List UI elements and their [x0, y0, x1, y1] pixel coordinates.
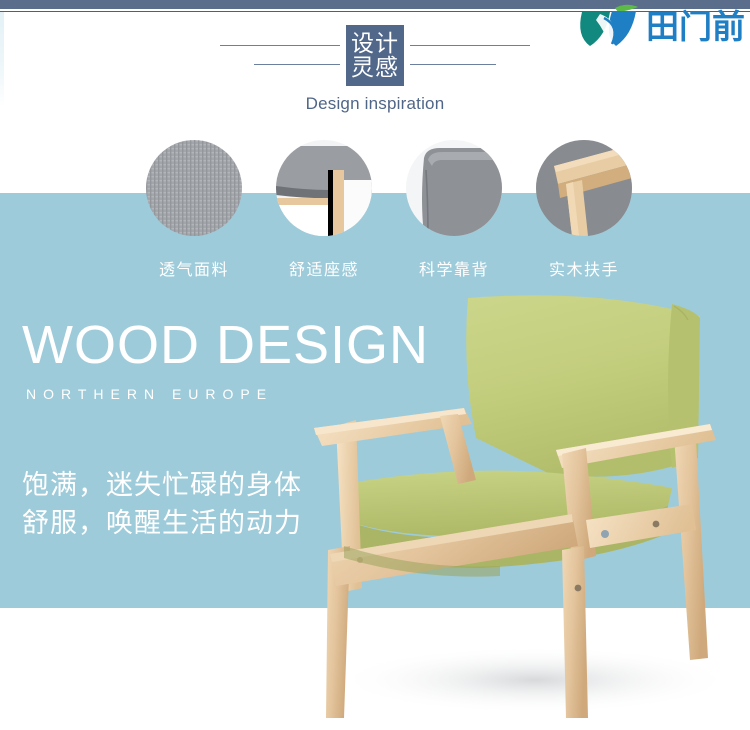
decor-rule — [254, 64, 340, 65]
fabric-weave-swatch-icon — [146, 140, 242, 236]
hero-tagline-line-2: 舒服，唤醒生活的动力 — [22, 504, 302, 542]
backrest-corner-detail-icon — [406, 140, 502, 236]
product-image — [300, 288, 750, 730]
decor-rules-left — [220, 45, 340, 65]
feature-list: 透气面料 舒适座感 — [130, 140, 650, 280]
cushion-seat-detail-icon — [276, 140, 372, 236]
decor-rule — [410, 45, 530, 46]
feature-label: 舒适座感 — [260, 256, 388, 280]
wood-armrest-joint-icon — [536, 140, 632, 236]
product-detail-page: 田门前 设计 灵感 Design inspiration — [0, 0, 750, 730]
feature-label: 实木扶手 — [520, 256, 648, 280]
hero-tagline: 饱满，迷失忙碌的身体 舒服，唤醒生活的动力 — [22, 466, 302, 543]
section-subtitle: Design inspiration — [0, 94, 750, 114]
decor-rules-right — [410, 45, 530, 65]
hero-subhead: NORTHERN EUROPE — [26, 386, 273, 402]
section-header: 设计 灵感 Design inspiration — [0, 18, 750, 123]
feature-item-0: 透气面料 — [130, 140, 258, 280]
badge-line-2: 灵感 — [351, 55, 399, 79]
decor-rule — [410, 64, 496, 65]
section-badge: 设计 灵感 — [346, 25, 404, 86]
hero-tagline-line-1: 饱满，迷失忙碌的身体 — [22, 466, 302, 504]
badge-line-1: 设计 — [351, 31, 399, 55]
badge-row: 设计 灵感 — [0, 22, 750, 88]
decor-rule — [220, 45, 340, 46]
feature-item-1: 舒适座感 — [260, 140, 388, 280]
feature-item-3: 实木扶手 — [520, 140, 648, 280]
feature-label: 透气面料 — [130, 256, 258, 280]
feature-item-2: 科学靠背 — [390, 140, 518, 280]
feature-label: 科学靠背 — [390, 256, 518, 280]
